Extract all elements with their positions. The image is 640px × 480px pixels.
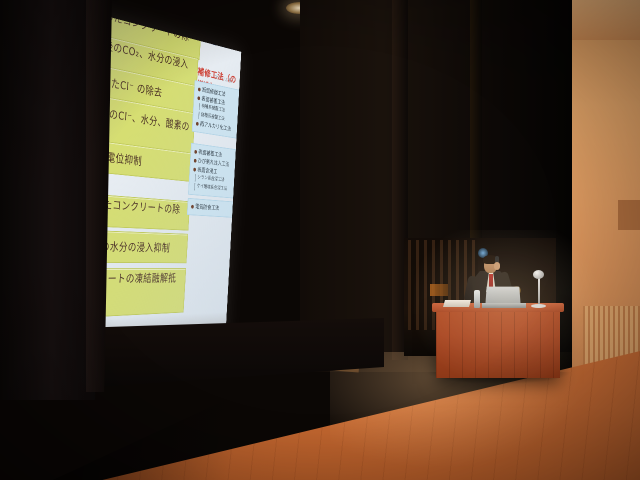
photo-scene: ・ 劣化したコンクリートの除去 の除去 （主となる） アクリル系 害 ・ 補修後… <box>0 0 640 480</box>
blue-item: 電気防食工法 <box>191 202 234 214</box>
speaker-hand <box>494 262 500 270</box>
stage-prop-orange <box>430 284 448 296</box>
blue-box-1: 断面修復工法 表面被覆工法 有機系被覆工法 無機系被覆工法 再アルカリ化工法 <box>192 80 242 139</box>
slide-navy-note: （主となる） <box>209 37 232 51</box>
water-bottle-icon <box>474 290 480 308</box>
papers-on-podium <box>443 300 471 307</box>
blue-box-2: 表面被覆工法 ひび割れ注入工法 表面含浸工 シラン系含浸工法 ケイ酸塩系含浸工法 <box>188 143 240 199</box>
microphone-base <box>531 304 546 308</box>
microphone-head-icon <box>533 270 544 279</box>
blue-subitem: ケイ酸塩系含浸工法 <box>194 183 227 193</box>
laptop-base <box>482 303 526 308</box>
podium-wood-grain <box>436 312 560 378</box>
wall-niche <box>618 200 640 230</box>
blue-box-3: 電気防食工法 <box>187 198 237 218</box>
